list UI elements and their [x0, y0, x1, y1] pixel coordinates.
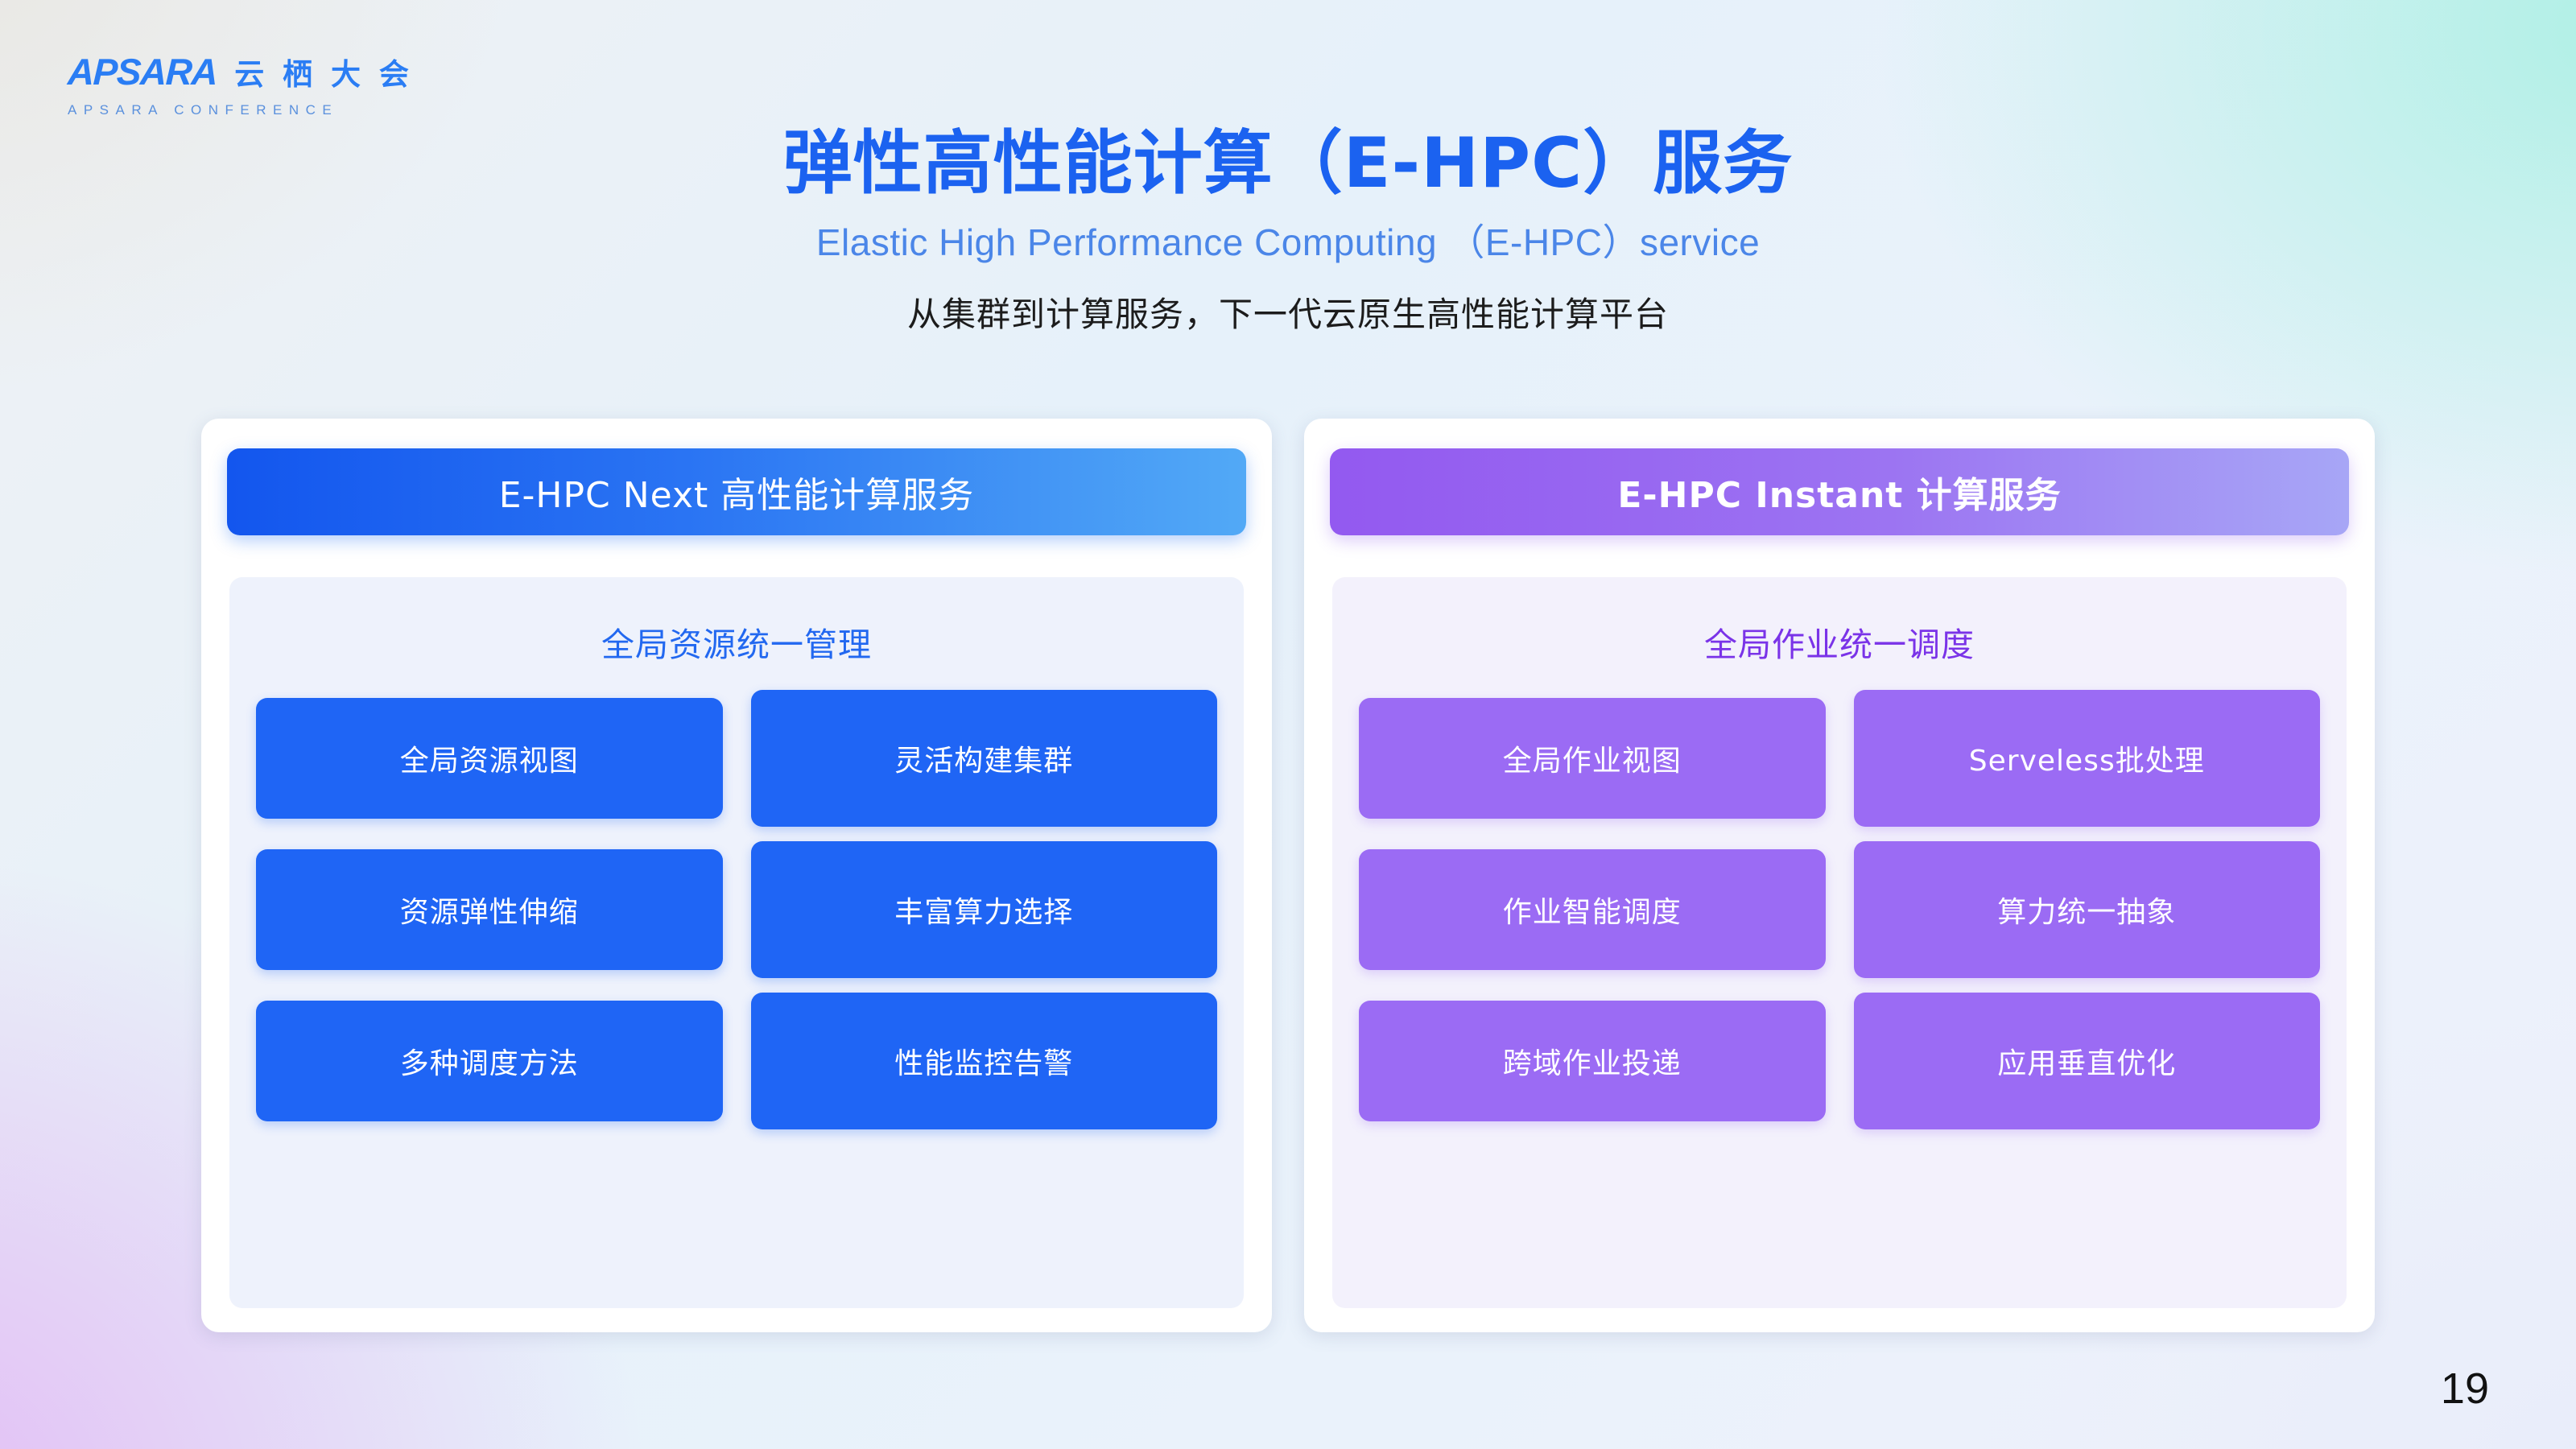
- feature-tile[interactable]: 全局作业视图: [1359, 698, 1826, 819]
- feature-tile-label: 灵活构建集群: [894, 737, 1073, 779]
- feature-tile-label: 丰富算力选择: [894, 889, 1073, 931]
- feature-tile-label: 全局资源视图: [400, 737, 579, 779]
- apsara-chinese-name: 云 栖 大 会: [234, 50, 413, 93]
- page-subtitle: Elastic High Performance Computing （E-HP…: [0, 213, 2576, 266]
- card-panel-e-hpc-next: 全局资源统一管理 全局资源视图 灵活构建集群 资源弹性伸缩 丰富算力选择 多种调…: [229, 577, 1244, 1308]
- feature-tile-label: 资源弹性伸缩: [400, 889, 579, 931]
- feature-tile[interactable]: 多种调度方法: [256, 1001, 723, 1121]
- feature-tile-label: 作业智能调度: [1503, 889, 1682, 931]
- card-banner-e-hpc-next: E-HPC Next 高性能计算服务: [227, 448, 1246, 535]
- page-title: 弹性高性能计算（E-HPC）服务: [0, 125, 2576, 202]
- apsara-conference-logo: APSARA 云 栖 大 会 APSARA CONFERENCE: [68, 50, 413, 118]
- feature-tile-label: 应用垂直优化: [1997, 1040, 2176, 1082]
- feature-tile[interactable]: Serveless批处理: [1854, 690, 2321, 827]
- feature-tile-label: Serveless批处理: [1969, 737, 2205, 779]
- apsara-wordmark: APSARA: [67, 50, 217, 93]
- feature-tile-label: 多种调度方法: [400, 1040, 579, 1082]
- page-tagline: 从集群到计算服务，下一代云原生高性能计算平台: [0, 287, 2576, 336]
- feature-tile[interactable]: 跨域作业投递: [1359, 1001, 1826, 1121]
- card-banner-e-hpc-instant: E-HPC Instant 计算服务: [1330, 448, 2349, 535]
- feature-tile[interactable]: 资源弹性伸缩: [256, 849, 723, 970]
- tile-grid-e-hpc-instant: 全局作业视图 Serveless批处理 作业智能调度 算力统一抽象 跨域作业投递…: [1332, 666, 2347, 1129]
- page-number: 19: [2441, 1364, 2489, 1414]
- section-label-global-resource: 全局资源统一管理: [229, 577, 1244, 666]
- section-label-global-job: 全局作业统一调度: [1332, 577, 2347, 666]
- feature-tile[interactable]: 性能监控告警: [751, 993, 1218, 1129]
- card-banner-label: E-HPC Next 高性能计算服务: [499, 466, 975, 518]
- feature-tile[interactable]: 全局资源视图: [256, 698, 723, 819]
- feature-tile[interactable]: 应用垂直优化: [1854, 993, 2321, 1129]
- feature-tile[interactable]: 作业智能调度: [1359, 849, 1826, 970]
- card-banner-label: E-HPC Instant 计算服务: [1617, 466, 2061, 518]
- apsara-conference-subtitle: APSARA CONFERENCE: [68, 102, 413, 118]
- feature-tile-label: 跨域作业投递: [1503, 1040, 1682, 1082]
- card-panel-e-hpc-instant: 全局作业统一调度 全局作业视图 Serveless批处理 作业智能调度 算力统一…: [1332, 577, 2347, 1308]
- logo-row: APSARA 云 栖 大 会: [68, 50, 413, 93]
- card-e-hpc-next: E-HPC Next 高性能计算服务 全局资源统一管理 全局资源视图 灵活构建集…: [201, 419, 1272, 1332]
- feature-tile-label: 性能监控告警: [894, 1040, 1073, 1082]
- feature-tile[interactable]: 算力统一抽象: [1854, 841, 2321, 978]
- feature-tile-label: 算力统一抽象: [1997, 889, 2176, 931]
- tile-grid-e-hpc-next: 全局资源视图 灵活构建集群 资源弹性伸缩 丰富算力选择 多种调度方法 性能监控告…: [229, 666, 1244, 1129]
- feature-tile[interactable]: 丰富算力选择: [751, 841, 1218, 978]
- feature-tile[interactable]: 灵活构建集群: [751, 690, 1218, 827]
- feature-tile-label: 全局作业视图: [1503, 737, 1682, 779]
- slide-heading-group: 弹性高性能计算（E-HPC）服务 Elastic High Performanc…: [0, 125, 2576, 336]
- card-e-hpc-instant: E-HPC Instant 计算服务 全局作业统一调度 全局作业视图 Serve…: [1304, 419, 2375, 1332]
- slide-canvas: APSARA 云 栖 大 会 APSARA CONFERENCE 弹性高性能计算…: [0, 0, 2576, 1449]
